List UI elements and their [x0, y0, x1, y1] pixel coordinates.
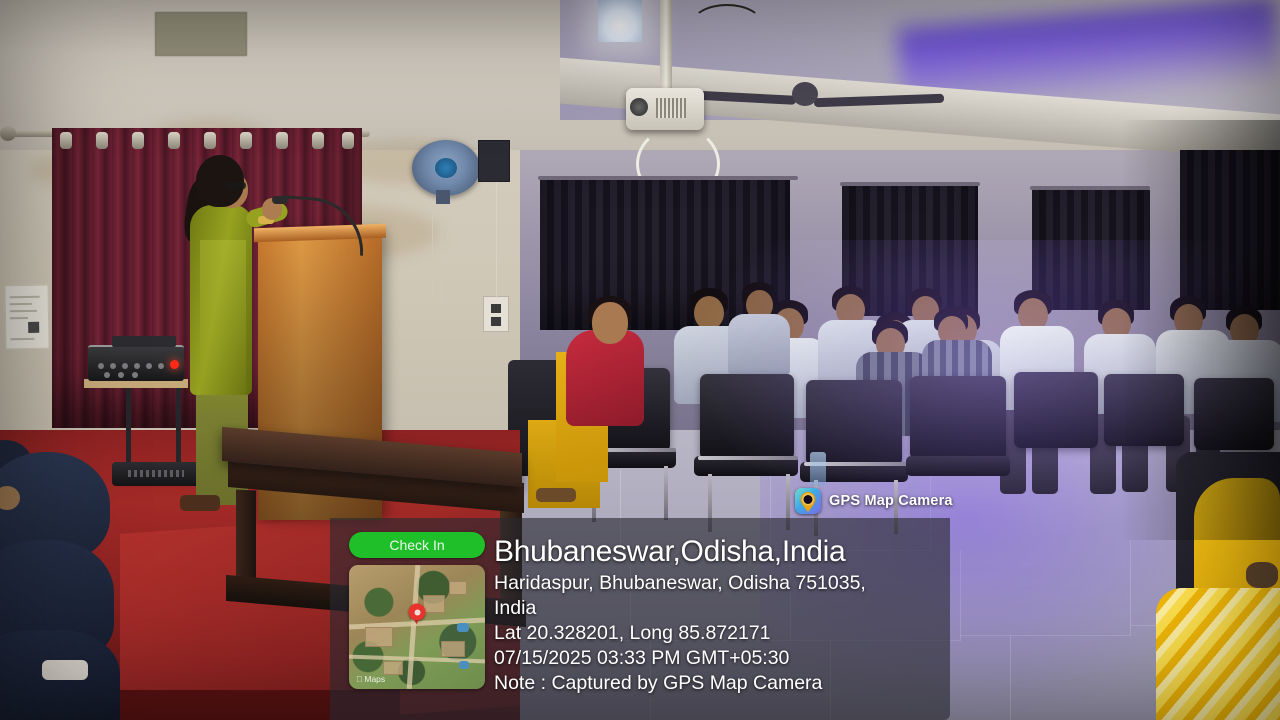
apple-logo-icon:  [356, 674, 362, 684]
map-thumbnail[interactable]:  Maps [349, 565, 485, 689]
gps-map-camera-photo: GPS Map Camera Check In  [0, 0, 1280, 720]
map-attribution:  Maps [356, 674, 385, 684]
gps-map-camera-app-icon [795, 488, 821, 514]
camera-lens-icon [804, 495, 813, 504]
pin-tip-icon [802, 504, 814, 512]
capture-note: Note : Captured by GPS Map Camera [494, 671, 940, 696]
timestamp: 07/15/2025 03:33 PM GMT+05:30 [494, 646, 940, 671]
gps-panel-text: Bhubaneswar,Odisha,India Haridaspur, Bhu… [490, 518, 950, 696]
check-in-button[interactable]: Check In [349, 532, 485, 558]
map-pin-icon [409, 604, 426, 621]
gps-info-panel: Check In  Maps [330, 518, 950, 720]
gps-panel-left: Check In  Maps [330, 518, 490, 689]
watermark-label: GPS Map Camera [829, 493, 953, 509]
address-line-2: India [494, 596, 940, 621]
address-line-1: Haridaspur, Bhubaneswar, Odisha 751035, [494, 571, 940, 596]
coordinates: Lat 20.328201, Long 85.872171 [494, 621, 940, 646]
location-title: Bhubaneswar,Odisha,India [494, 536, 940, 568]
gps-map-camera-watermark: GPS Map Camera [795, 488, 953, 514]
